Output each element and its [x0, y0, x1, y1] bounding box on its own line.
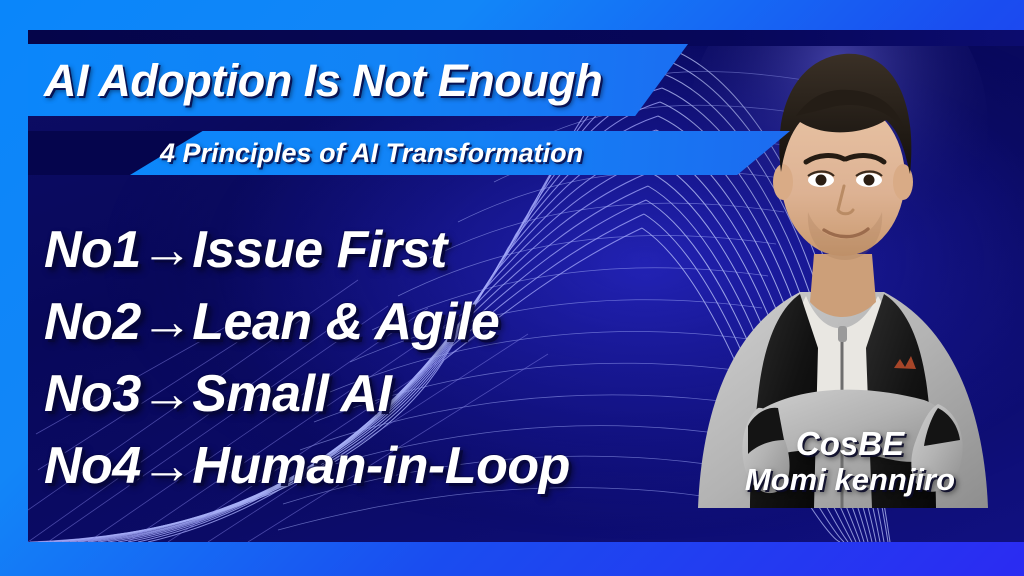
thumbnail-canvas: CosBE Momi kennjiro AI Adoption Is Not E…	[0, 0, 1024, 576]
principle-index: No3	[44, 365, 141, 423]
top-dark-strip	[28, 30, 1024, 46]
presenter-fullname: Momi kennjiro	[700, 462, 1000, 498]
principle-index: No4	[44, 437, 141, 495]
arrow-right-icon: →	[141, 293, 193, 351]
principle-item: No4→Human-in-Loop	[44, 430, 744, 502]
principle-item: No1→Issue First	[44, 214, 744, 286]
presenter-org: CosBE	[700, 426, 1000, 462]
arrow-right-icon: →	[141, 437, 193, 495]
page-subtitle: 4 Principles of AI Transformation	[160, 132, 860, 174]
principle-index: No1	[44, 221, 141, 279]
principle-label: Small AI	[192, 365, 391, 423]
page-title: AI Adoption Is Not Enough	[44, 50, 724, 112]
principles-list: No1→Issue First No2→Lean & Agile No3→Sma…	[44, 214, 744, 502]
principle-label: Human-in-Loop	[192, 437, 570, 495]
arrow-right-icon: →	[141, 221, 193, 279]
presenter-name-block: CosBE Momi kennjiro	[700, 426, 1000, 498]
principle-label: Lean & Agile	[192, 293, 499, 351]
principle-item: No3→Small AI	[44, 358, 744, 430]
principle-label: Issue First	[192, 221, 447, 279]
principle-item: No2→Lean & Agile	[44, 286, 744, 358]
arrow-right-icon: →	[141, 365, 193, 423]
principle-index: No2	[44, 293, 141, 351]
